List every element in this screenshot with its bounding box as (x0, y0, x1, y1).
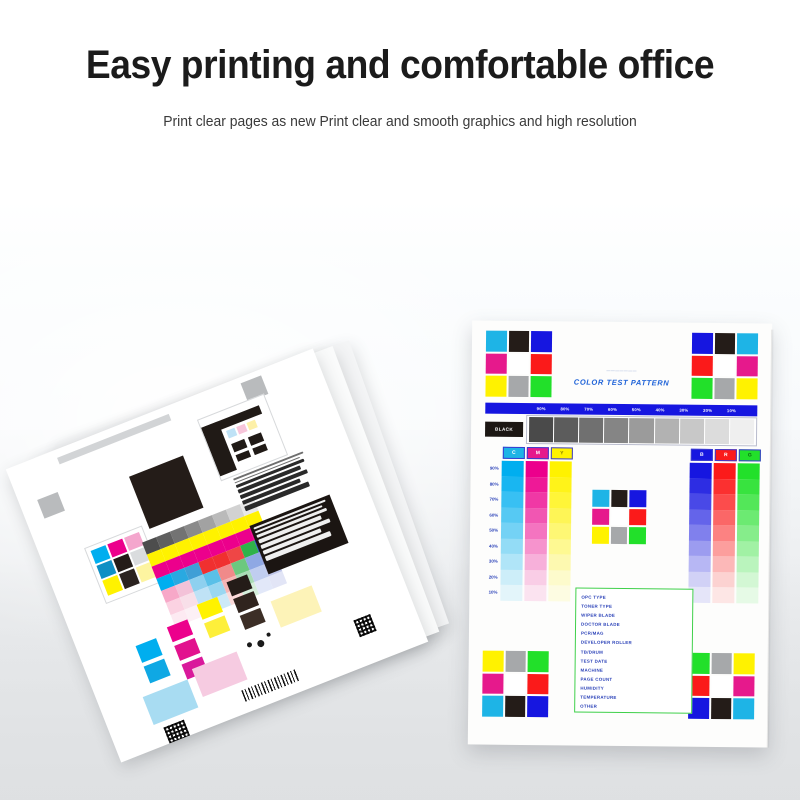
ramp-step (738, 463, 760, 479)
ramp-step (524, 570, 546, 586)
color-block (483, 651, 504, 672)
gray-step (604, 418, 628, 443)
solid-black-patch (129, 456, 203, 529)
ramp-step (549, 492, 571, 508)
ramp-step (548, 585, 570, 601)
color-block (509, 331, 530, 352)
ramp-step (713, 478, 735, 494)
pct-bar-label: 80% (553, 406, 577, 411)
ramp-step (713, 540, 735, 556)
barcode (241, 669, 299, 701)
color-block (592, 527, 609, 544)
ramp-step (688, 571, 710, 587)
color-block (528, 651, 549, 672)
center-color-grid (592, 490, 647, 545)
lower-swatch-cyan-2 (144, 659, 171, 684)
ramp-step (501, 554, 523, 570)
mini-chart-patch-d (252, 443, 268, 455)
ramp-step (712, 587, 734, 603)
color-block (715, 333, 736, 354)
gray-reference-square-tl (37, 492, 65, 519)
ramp-step (689, 494, 711, 510)
black-strip-label: BLACK (485, 422, 523, 437)
pct-scale-label: 30% (476, 553, 498, 569)
info-field: OTHER (580, 702, 686, 712)
pct-scale-label: 20% (475, 569, 497, 585)
pct-bar-label: 40% (648, 407, 672, 412)
ramp-red (712, 463, 735, 603)
ramp-cyan (500, 461, 523, 601)
ramp-green (736, 463, 759, 603)
ramp-step (525, 554, 547, 570)
column-header-c: C (503, 447, 525, 459)
color-block (629, 527, 646, 544)
gray-step (579, 418, 603, 443)
color-block (592, 490, 609, 507)
column-header-y-label: Y (560, 450, 563, 456)
color-block (531, 331, 552, 352)
color-block (527, 696, 548, 717)
ramp-step (526, 461, 548, 477)
ramp-step (525, 508, 547, 524)
color-block (611, 490, 628, 507)
color-block (692, 333, 713, 354)
pct-scale-label: 90% (477, 460, 499, 476)
color-block (737, 333, 758, 354)
corner-grid-bottom-right (688, 653, 755, 720)
color-block (528, 674, 549, 695)
color-block (630, 490, 647, 507)
header: Easy printing and comfortable office Pri… (0, 42, 800, 130)
ramp-step (736, 587, 758, 603)
color-block (592, 508, 609, 525)
ramp-step (525, 539, 547, 555)
ramp-step (689, 525, 711, 541)
lower-swatch-yellow-2 (204, 615, 230, 638)
pct-bar-label: 90% (529, 406, 553, 411)
ramp-step (500, 569, 522, 585)
ramp-step (713, 556, 735, 572)
pct-scale-label: 70% (476, 491, 498, 507)
ramp-magenta (524, 461, 547, 601)
color-block (611, 509, 628, 526)
column-header-m: M (527, 447, 549, 459)
ramp-step (689, 509, 711, 525)
column-header-b-label: B (700, 452, 704, 458)
mini-chart-patch-c (236, 450, 252, 462)
gray-step (629, 418, 653, 443)
black-density-strip: BLACK (485, 417, 757, 445)
page-subtitle: Print clear pages as new Print clear and… (16, 114, 784, 130)
ramp-step (737, 525, 759, 541)
ramp-step (712, 571, 734, 587)
page-title: Easy printing and comfortable office (28, 42, 772, 88)
dot-sample-b (256, 639, 265, 648)
gray-step (554, 417, 578, 442)
ramp-step (737, 494, 759, 510)
test-info-field-list: OPC TYPE TONER TYPE WIPER BLADE DOCTOR B… (580, 593, 687, 712)
color-block (611, 527, 628, 544)
column-header-r: R (715, 449, 737, 461)
ramp-step (549, 554, 571, 570)
ramp-step (689, 478, 711, 494)
pct-scale-label: 80% (476, 476, 498, 492)
pct-bar-label: 50% (624, 407, 648, 412)
column-header-c-label: C (512, 450, 516, 456)
ramp-step (524, 585, 546, 601)
ramp-step (690, 463, 712, 479)
color-block (711, 676, 732, 697)
ramp-step (501, 507, 523, 523)
color-block (482, 696, 503, 717)
ramp-step (549, 523, 571, 539)
column-header-g-label: G (748, 452, 752, 458)
pct-bar-label: 60% (601, 407, 625, 412)
color-block (505, 696, 526, 717)
color-block (734, 676, 755, 697)
mini-swatch-yellow (246, 420, 257, 431)
mini-swatch-magenta (236, 424, 247, 435)
corner-grid-bottom-left (482, 651, 549, 718)
pct-scale-label: 50% (476, 522, 498, 538)
ramp-step (525, 477, 547, 493)
ramp-step (525, 492, 547, 508)
large-swatch-cream (271, 585, 322, 627)
page-stage: Easy printing and comfortable office Pri… (0, 0, 800, 800)
gray-step (680, 419, 704, 444)
dot-sample-c (266, 632, 271, 637)
pct-bar-label: 20% (696, 408, 720, 413)
ramp-step (525, 523, 547, 539)
column-header-b: B (691, 449, 713, 461)
color-block (733, 699, 754, 720)
ramp-step (550, 461, 572, 477)
pct-bar-label: 70% (577, 407, 601, 412)
ramp-step (501, 476, 523, 492)
ramp-step (689, 556, 711, 572)
ramp-step (502, 461, 524, 477)
gray-step (705, 419, 729, 444)
ramp-step (736, 572, 758, 588)
color-block (711, 653, 732, 674)
color-block (505, 651, 526, 672)
column-header-r-label: R (724, 452, 728, 458)
ramp-step (500, 585, 522, 601)
large-swatch-lightblue (143, 679, 199, 725)
column-header-g: G (739, 449, 761, 461)
ramp-step (714, 463, 736, 479)
dot-sample-a (246, 642, 252, 648)
color-block (486, 331, 507, 352)
black-strip-steps (526, 415, 757, 446)
ramp-step (713, 509, 735, 525)
color-test-page: ▁▁▁▁▁▁▁ COLOR TEST PATTERN 90% 80% 70% 6… (468, 320, 772, 747)
column-header-m-label: M (536, 450, 540, 456)
percentage-scale-left: 90% 80% 70% 60% 50% 40% 30% 20% 10% (475, 460, 498, 600)
ramp-step (737, 541, 759, 557)
ramp-step (548, 570, 570, 586)
pct-scale-label: 10% (475, 584, 497, 600)
ramp-step (689, 540, 711, 556)
ramp-step (501, 523, 523, 539)
qr-code-right (353, 614, 376, 637)
color-test-page-content: ▁▁▁▁▁▁▁ COLOR TEST PATTERN 90% 80% 70% 6… (468, 320, 772, 747)
ramp-step (737, 556, 759, 572)
mini-swatch-cyan (226, 428, 237, 439)
ramp-step (549, 477, 571, 493)
color-block (711, 698, 732, 719)
ramp-blue (688, 463, 711, 603)
pct-bar-label: 10% (720, 408, 744, 413)
ramp-step (737, 479, 759, 495)
test-info-box: OPC TYPE TONER TYPE WIPER BLADE DOCTOR B… (574, 588, 693, 714)
color-block (505, 673, 526, 694)
qr-code-left (163, 720, 192, 749)
left-page-stack (18, 370, 448, 770)
gray-step (529, 417, 553, 442)
gray-step (730, 419, 754, 444)
ramp-yellow (548, 461, 571, 601)
ramp-step (549, 539, 571, 555)
ramp-step (713, 494, 735, 510)
color-block (734, 653, 755, 674)
lower-swatch-cyan (136, 638, 163, 663)
ramp-step (549, 508, 571, 524)
color-block (482, 673, 503, 694)
pct-scale-label: 60% (476, 507, 498, 523)
pct-bar-label: 30% (672, 408, 696, 413)
pct-scale-label: 40% (476, 538, 498, 554)
ramp-step (501, 538, 523, 554)
color-block (629, 509, 646, 526)
gray-step (655, 418, 679, 443)
ramp-step (737, 510, 759, 526)
column-header-y: Y (551, 447, 573, 459)
ramp-step (501, 492, 523, 508)
ramp-step (713, 525, 735, 541)
